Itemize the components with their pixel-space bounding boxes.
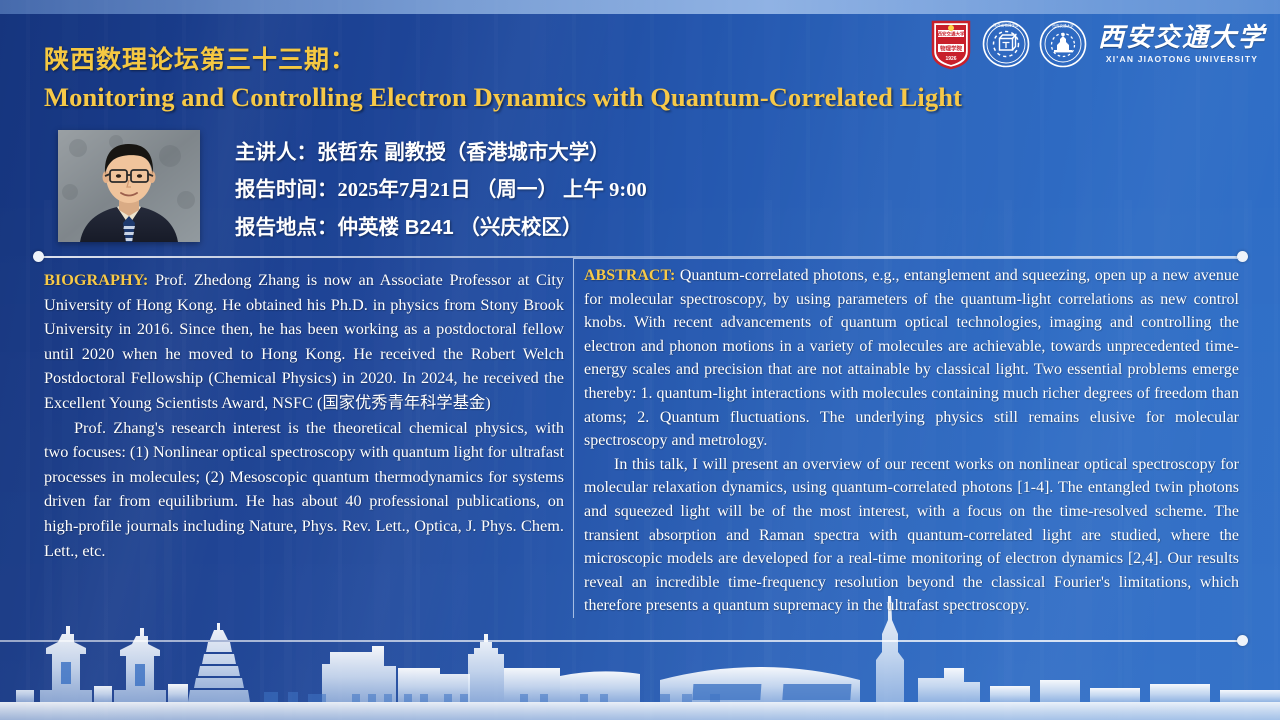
divider-dot-bottom-right [1237,635,1248,646]
xjtu-physics-school-shield-logo: 西安交通大学 物理学院 1926 [929,18,973,70]
xjtu-round-seal-logo: 西安交通大学 [1039,20,1087,68]
seminar-venue-line: 报告地点：仲英楼 B241 （兴庆校区） [235,209,855,246]
biography-paragraph-2: Prof. Zhang's research interest is the t… [44,416,564,564]
seminar-venue-value: 仲英楼 B241 （兴庆校区） [338,216,583,239]
speaker-photo [58,130,200,242]
svg-text:1926: 1926 [945,56,956,62]
speaker-name-line: 主讲人：张哲东 副教授（香港城市大学） [235,134,855,171]
svg-text:陕西省物理学会: 陕西省物理学会 [993,23,1019,28]
background-top-band [0,0,1280,14]
biography-paragraph-1: BIOGRAPHY: Prof. Zhedong Zhang is now an… [44,268,564,416]
page-title: Monitoring and Controlling Electron Dyna… [44,82,962,113]
svg-text:物理学院: 物理学院 [940,45,963,53]
seminar-poster: 西安交通大学 物理学院 1926 陕西省物理学会 西安交通大学 [0,0,1280,720]
seminar-venue-label: 报告地点： [235,216,338,239]
abstract-paragraph-1: ABSTRACT: Quantum-correlated photons, e.… [584,264,1239,453]
speaker-name-value: 张哲东 副教授（香港城市大学） [317,141,610,164]
university-name-cn: 西安交通大学 [1098,25,1266,51]
biography-section: BIOGRAPHY: Prof. Zhedong Zhang is now an… [44,268,564,563]
shaanxi-physics-association-round-logo: 陕西省物理学会 [982,20,1030,68]
series-title: 陕西数理论坛第三十三期： [44,40,356,76]
speaker-portrait-image [58,130,200,242]
seminar-time-value: 2025年7月21日 （周一） 上午 9:00 [338,179,647,201]
divider-dot-left [33,251,44,262]
svg-text:西安交通大学: 西安交通大学 [937,31,964,38]
seminar-time-label: 报告时间： [235,178,338,201]
abstract-paragraph-2: In this talk, I will present an overview… [584,453,1239,618]
seminar-time-line: 报告时间：2025年7月21日 （周一） 上午 9:00 [235,171,855,209]
speaker-info: 主讲人：张哲东 副教授（香港城市大学） 报告时间：2025年7月21日 （周一）… [235,134,855,246]
abstract-text-1: Quantum-correlated photons, e.g., entang… [584,267,1239,449]
speaker-name-label: 主讲人： [235,141,317,164]
biography-text-1: Prof. Zhedong Zhang is now an Associate … [44,270,564,412]
abstract-section: ABSTRACT: Quantum-correlated photons, e.… [573,258,1239,618]
biography-label: BIOGRAPHY: [44,270,148,289]
abstract-label: ABSTRACT: [584,267,675,284]
footer-divider [0,640,1244,642]
university-name-block: 西安交通大学 XI'AN JIAOTONG UNIVERSITY [1098,25,1266,64]
svg-text:西安交通大学: 西安交通大学 [1052,23,1074,28]
logo-group: 西安交通大学 物理学院 1926 陕西省物理学会 西安交通大学 [929,18,1266,70]
university-name-en: XI'AN JIAOTONG UNIVERSITY [1106,54,1258,64]
